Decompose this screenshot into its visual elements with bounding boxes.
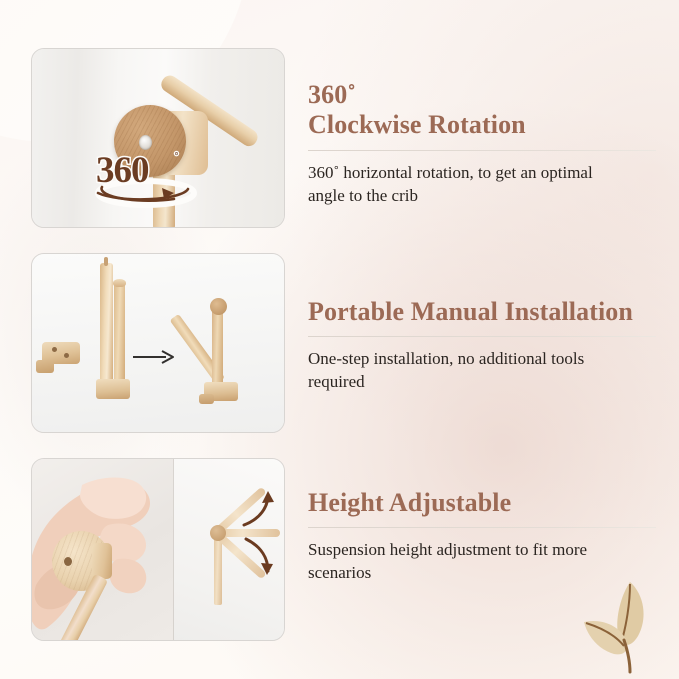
rod-tip bbox=[104, 257, 108, 266]
hub-screw-hole bbox=[64, 557, 72, 566]
overlay-degree-symbol: ˚ bbox=[174, 151, 179, 168]
heading-line-2: Clockwise Rotation bbox=[308, 110, 526, 139]
curved-adjust-arrows-icon bbox=[234, 481, 280, 585]
clamp-bracket-lip bbox=[36, 360, 54, 373]
feature-text-height: Height Adjustable Suspension height adju… bbox=[308, 488, 660, 585]
heading-line-1: 360˚ bbox=[308, 80, 356, 109]
leaf-sprig-icon bbox=[576, 578, 672, 674]
heading-divider bbox=[308, 527, 656, 528]
height-positions-diagram bbox=[176, 473, 280, 631]
diagram-pivot-hub bbox=[210, 525, 226, 541]
feature-text-rotation: 360˚ Clockwise Rotation 360˚ horizontal … bbox=[308, 80, 660, 207]
heading-divider bbox=[308, 150, 656, 151]
assembled-joint-hub bbox=[210, 298, 227, 315]
rotation-overlay-badge: 360 ˚ bbox=[88, 149, 208, 211]
feature-body-installation: One-step installation, no additional too… bbox=[308, 348, 608, 394]
rod-cap bbox=[113, 279, 126, 287]
assembled-vertical-post bbox=[212, 306, 223, 388]
heading-divider bbox=[308, 336, 656, 337]
long-wooden-rod bbox=[100, 263, 113, 385]
right-arrow-icon bbox=[132, 350, 178, 364]
photo-360-rotation-joint: 360 ˚ bbox=[32, 49, 284, 227]
feature-body-height: Suspension height adjustment to fit more… bbox=[308, 539, 608, 585]
feature-body-rotation: 360˚ horizontal rotation, to get an opti… bbox=[308, 162, 608, 208]
photo-height-adjustable-hands-diagram bbox=[32, 459, 284, 640]
photo-manual-installation-parts bbox=[32, 254, 284, 432]
hub-screw-hole bbox=[139, 135, 152, 150]
feature-heading-rotation: 360˚ Clockwise Rotation bbox=[308, 80, 660, 141]
feature-photo-card-installation bbox=[31, 253, 285, 433]
clamp-screw bbox=[199, 394, 214, 404]
rod-base-block bbox=[96, 379, 130, 399]
hub-collar bbox=[92, 543, 112, 579]
overlay-number: 360 bbox=[96, 149, 149, 192]
feature-heading-installation: Portable Manual Installation bbox=[308, 297, 660, 327]
feature-text-installation: Portable Manual Installation One-step in… bbox=[308, 297, 660, 394]
short-wooden-rod bbox=[114, 282, 125, 385]
feature-photo-card-rotation: 360 ˚ bbox=[31, 48, 285, 228]
feature-photo-card-height bbox=[31, 458, 285, 641]
bracket-hole bbox=[52, 347, 57, 352]
feature-heading-height: Height Adjustable bbox=[308, 488, 660, 518]
infographic-page: 360 ˚ bbox=[0, 0, 679, 679]
diagram-clamp bbox=[206, 601, 234, 616]
bracket-hole bbox=[64, 353, 69, 358]
